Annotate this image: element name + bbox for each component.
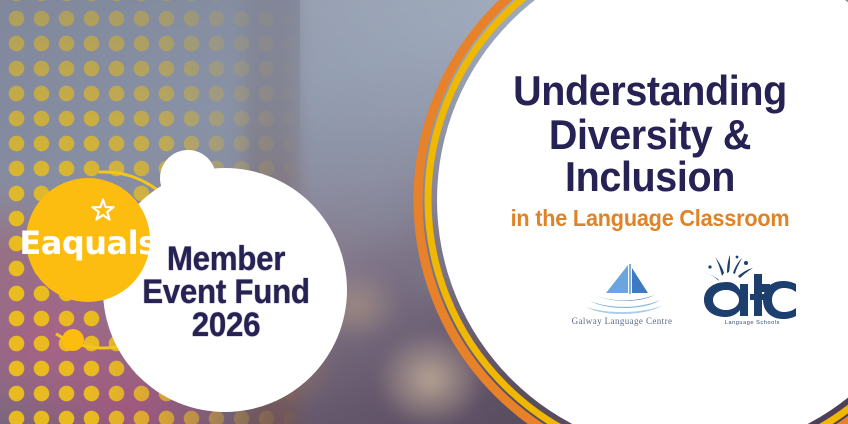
award-title-line2: Event Fund — [117, 276, 334, 309]
award-title: Member Event Fund 2026 — [117, 243, 334, 342]
galway-logo-name: Galway Language Centre — [572, 316, 673, 326]
event-banner: Eaquals Member Event Fund 2026 Understan… — [0, 0, 848, 424]
decor-amber-dot-small — [62, 329, 84, 351]
sailboat-icon — [576, 260, 668, 314]
partner-logos: Galway Language Centre — [540, 240, 840, 326]
headline-subtitle: in the Language Classroom — [473, 207, 826, 230]
headline-line2: Diversity & Inclusion — [473, 114, 826, 198]
logo-atc-language-schools: Language Schools — [696, 254, 808, 326]
headline-line1: Understanding — [473, 70, 826, 112]
logo-galway-language-centre: Galway Language Centre — [572, 260, 673, 326]
atc-logo-subtitle: Language Schools — [725, 320, 780, 326]
award-title-line3: 2026 — [117, 309, 334, 342]
splash-icon — [696, 254, 808, 326]
event-headline: Understanding Diversity & Inclusion in t… — [462, 70, 838, 230]
star-icon — [90, 198, 116, 224]
